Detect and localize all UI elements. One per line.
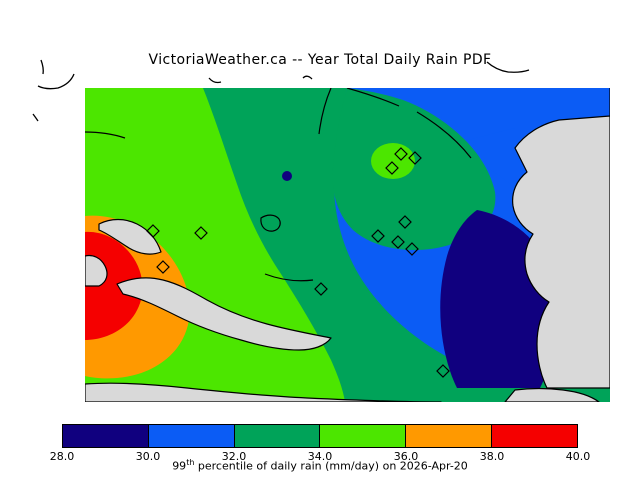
band-28-30-micro-spot bbox=[282, 171, 292, 181]
map-plot-area[interactable] bbox=[85, 88, 610, 402]
colorbar-segment-3[interactable] bbox=[320, 425, 406, 447]
colorbar-segment-0[interactable] bbox=[63, 425, 149, 447]
chart-title: VictoriaWeather.ca -- Year Total Daily R… bbox=[0, 52, 640, 68]
contour-map bbox=[85, 88, 610, 402]
colorbar-caption: 99th percentile of daily rain (mm/day) o… bbox=[0, 458, 640, 473]
caption-prefix: 99 bbox=[172, 460, 186, 473]
caption-rest: percentile of daily rain (mm/day) on 202… bbox=[194, 460, 467, 473]
colorbar-segment-2[interactable] bbox=[235, 425, 321, 447]
colorbar[interactable] bbox=[62, 424, 578, 448]
colorbar-segment-5[interactable] bbox=[492, 425, 577, 447]
colorbar-segment-1[interactable] bbox=[149, 425, 235, 447]
colorbar-segment-4[interactable] bbox=[406, 425, 492, 447]
figure-canvas: VictoriaWeather.ca -- Year Total Daily R… bbox=[0, 0, 640, 480]
